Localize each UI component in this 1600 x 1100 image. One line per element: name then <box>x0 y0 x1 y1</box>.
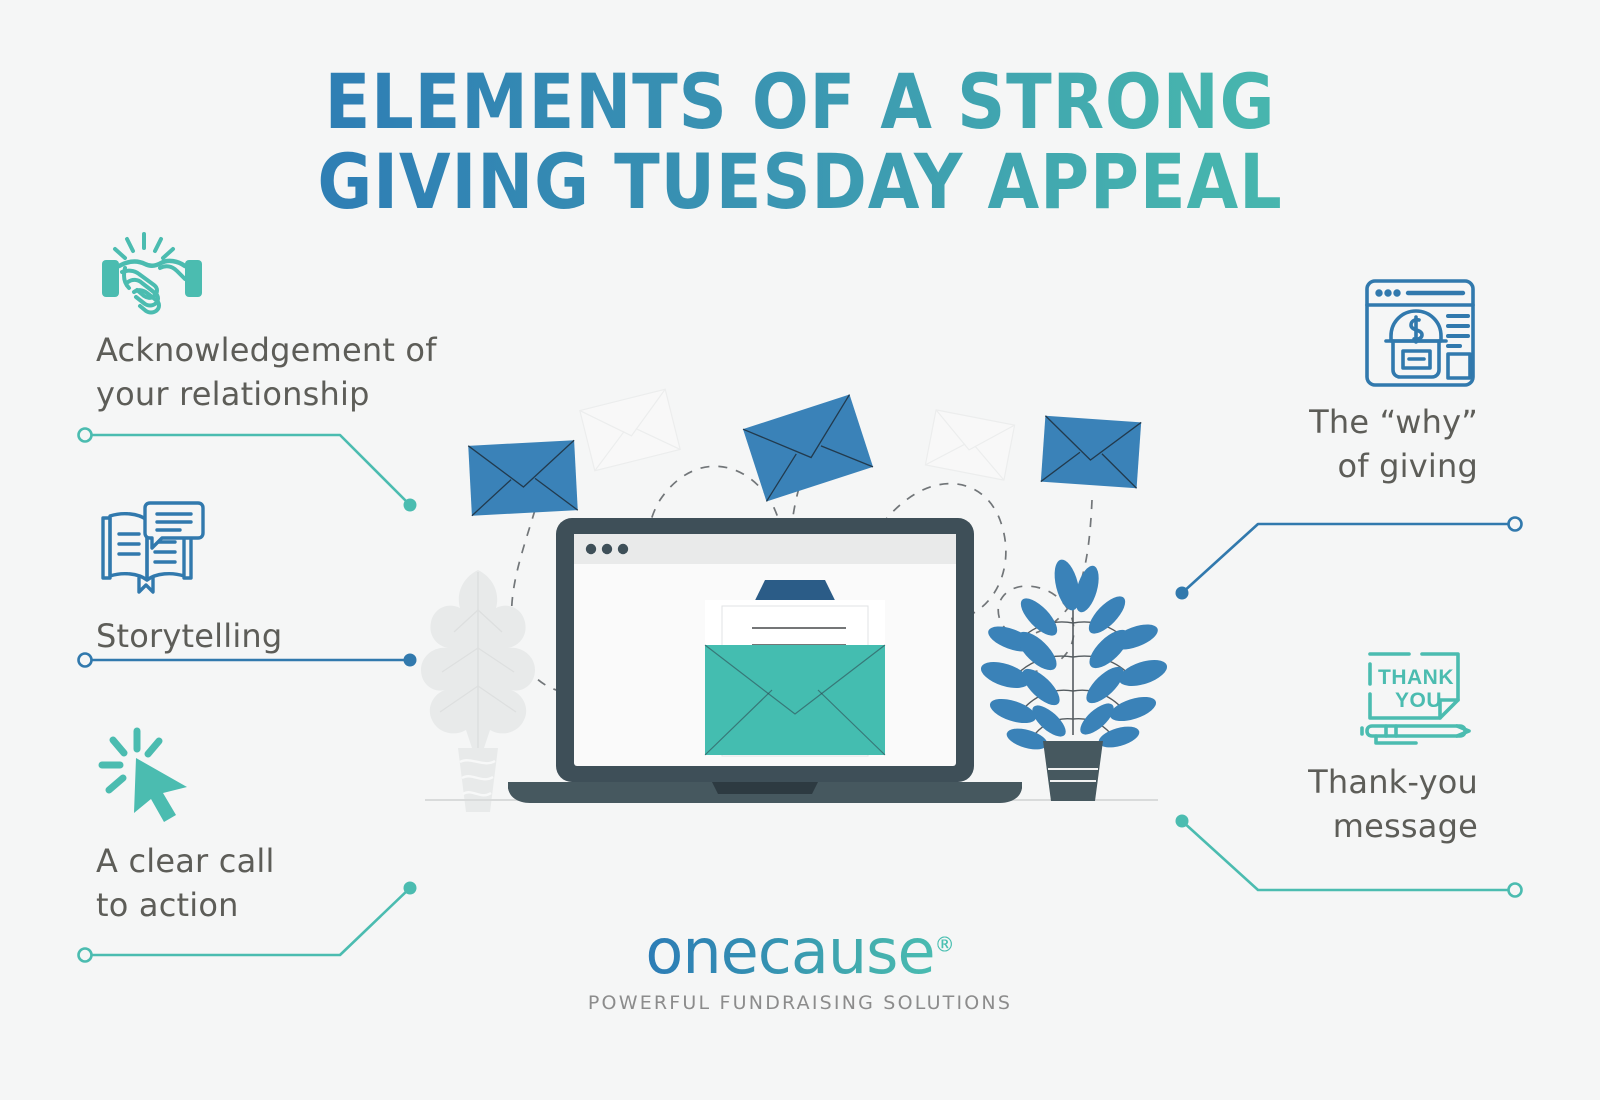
thank-you-note-pen-icon: THANK YOU <box>1354 648 1478 748</box>
callout-acknowledgement[interactable]: Acknowledgement of your relationship <box>96 228 456 416</box>
thank-you-icon-line-2: YOU <box>1395 689 1442 712</box>
connector-why-of-giving <box>1176 518 1522 600</box>
page-title: ELEMENTS OF A STRONG GIVING TUESDAY APPE… <box>96 62 1504 222</box>
browser-dots <box>586 544 628 554</box>
logo-tagline: POWERFUL FUNDRAISING SOLUTIONS <box>0 992 1600 1014</box>
onecause-logo: onecause® POWERFUL FUNDRAISING SOLUTIONS <box>0 915 1600 1014</box>
open-envelope-letter <box>705 580 885 756</box>
laptop <box>508 518 1022 803</box>
callout-thank-you-message[interactable]: THANK YOU Thank-you message <box>1118 648 1478 848</box>
callout-label: Storytelling <box>96 614 456 658</box>
callout-storytelling[interactable]: Storytelling <box>96 500 456 658</box>
thank-you-icon-line-1: THANK <box>1378 666 1454 689</box>
handshake-icon <box>96 228 208 320</box>
cursor-click-icon <box>96 725 200 825</box>
page-title-line-2: GIVING TUESDAY APPEAL <box>96 142 1504 222</box>
envelope-flight-paths <box>512 466 1092 693</box>
open-book-speech-bubble-icon <box>96 500 208 600</box>
registered-trademark-icon: ® <box>935 932 955 956</box>
page-title-line-1: ELEMENTS OF A STRONG <box>96 62 1504 142</box>
envelope-center <box>743 395 873 502</box>
donation-webpage-icon <box>1362 276 1478 390</box>
callout-label: A clear call to action <box>96 839 456 927</box>
logo-wordmark: onecause® <box>645 915 954 988</box>
callout-label: Thank-you message <box>1118 760 1478 848</box>
ghost-envelope-1 <box>580 389 680 470</box>
callout-why-of-giving[interactable]: The “why” of giving <box>1118 276 1478 488</box>
envelope-left <box>468 440 578 515</box>
callout-label: The “why” of giving <box>1118 400 1478 488</box>
callout-call-to-action[interactable]: A clear call to action <box>96 725 456 927</box>
ghost-envelope-2 <box>925 410 1014 480</box>
callout-label: Acknowledgement of your relationship <box>96 328 456 416</box>
logo-wordmark-text: onecause <box>645 915 934 988</box>
infographic-canvas: ELEMENTS OF A STRONG GIVING TUESDAY APPE… <box>0 0 1600 1100</box>
